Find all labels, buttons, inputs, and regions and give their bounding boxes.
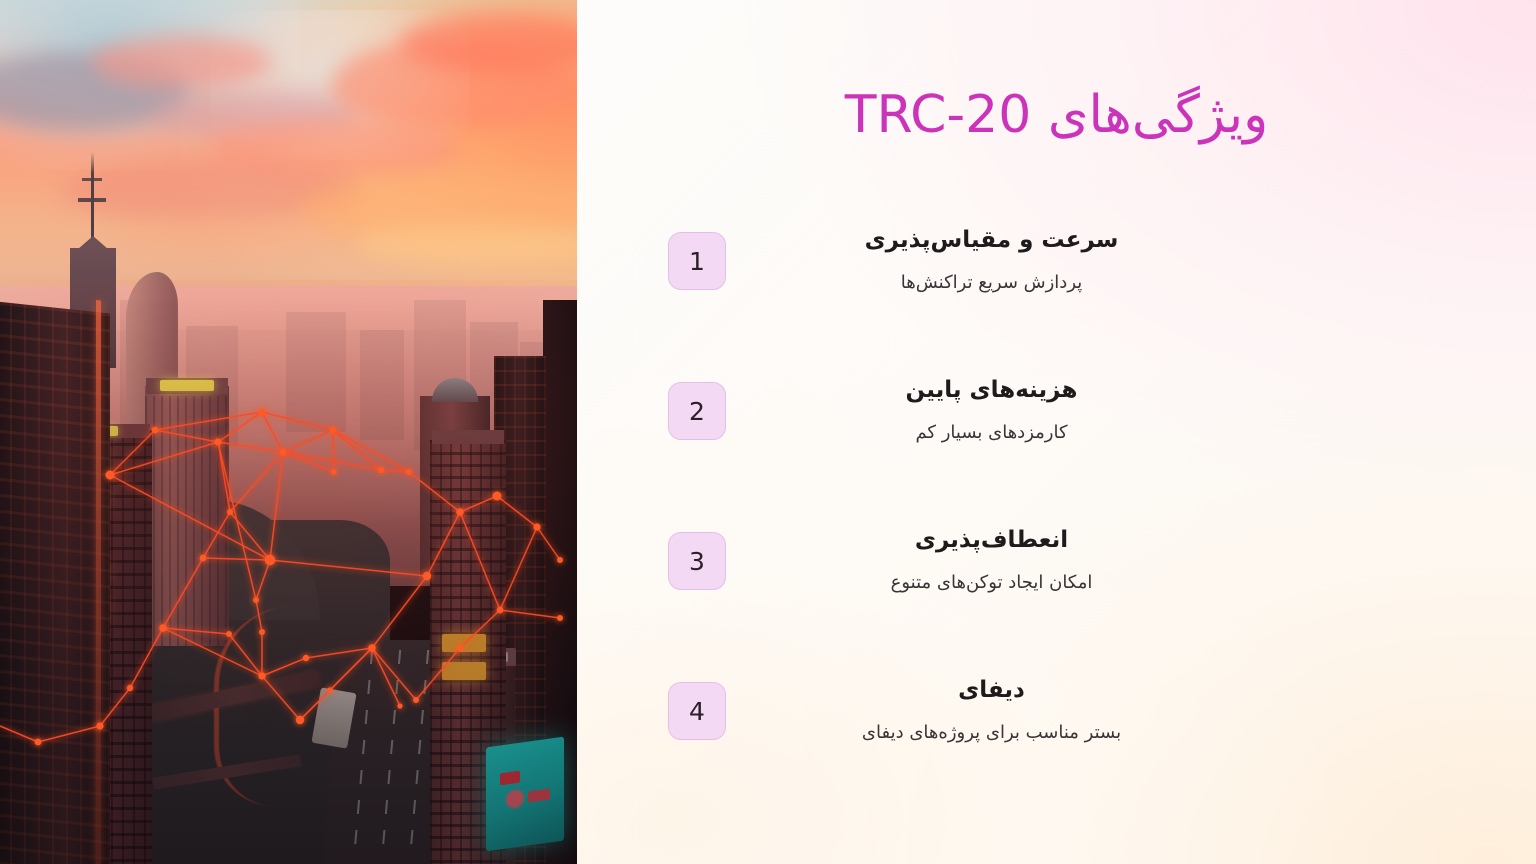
feature-subtitle-2: کارمزدهای بسیار کم: [747, 419, 1236, 446]
feature-title-1: سرعت و مقیاس‌پذیری: [747, 224, 1236, 257]
feature-text-3: انعطاف‌پذیری امکان ایجاد توکن‌های متنوع: [747, 524, 1236, 596]
photo-shadow-grade: [0, 300, 577, 864]
page-title: ویژگی‌های TRC-20: [577, 84, 1536, 147]
feature-title-4: دیفای: [747, 674, 1236, 707]
feature-subtitle-3: امکان ایجاد توکن‌های متنوع: [747, 569, 1236, 596]
list-item: 1 سرعت و مقیاس‌پذیری پردازش سریع تراکنش‌…: [577, 206, 1536, 356]
feature-subtitle-1: پردازش سریع تراکنش‌ها: [747, 269, 1236, 296]
feature-number-badge-3: 3: [668, 532, 726, 590]
cloud: [120, 215, 350, 249]
list-item: 3 انعطاف‌پذیری امکان ایجاد توکن‌های متنو…: [577, 506, 1536, 656]
feature-title-3: انعطاف‌پذیری: [747, 524, 1236, 557]
antenna-ring: [82, 178, 102, 181]
feature-list: 1 سرعت و مقیاس‌پذیری پردازش سریع تراکنش‌…: [577, 206, 1536, 806]
cloud: [92, 36, 272, 88]
feature-title-2: هزینه‌های پایین: [747, 374, 1236, 407]
feature-text-1: سرعت و مقیاس‌پذیری پردازش سریع تراکنش‌ها: [747, 224, 1236, 296]
feature-text-4: دیفای بستر مناسب برای پروژه‌های دیفای: [747, 674, 1236, 746]
cloud: [355, 225, 577, 263]
feature-number-badge-1: 1: [668, 232, 726, 290]
antenna-ring: [78, 198, 106, 202]
list-item: 4 دیفای بستر مناسب برای پروژه‌های دیفای: [577, 656, 1536, 806]
slide-root: ویژگی‌های TRC-20 1 سرعت و مقیاس‌پذیری پر…: [0, 0, 1536, 864]
content-panel: ویژگی‌های TRC-20 1 سرعت و مقیاس‌پذیری پر…: [577, 0, 1536, 864]
feature-subtitle-4: بستر مناسب برای پروژه‌های دیفای: [747, 719, 1236, 746]
feature-number-badge-2: 2: [668, 382, 726, 440]
cityscape-photo: [0, 0, 577, 864]
feature-text-2: هزینه‌های پایین کارمزدهای بسیار کم: [747, 374, 1236, 446]
feature-number-badge-4: 4: [668, 682, 726, 740]
list-item: 2 هزینه‌های پایین کارمزدهای بسیار کم: [577, 356, 1536, 506]
